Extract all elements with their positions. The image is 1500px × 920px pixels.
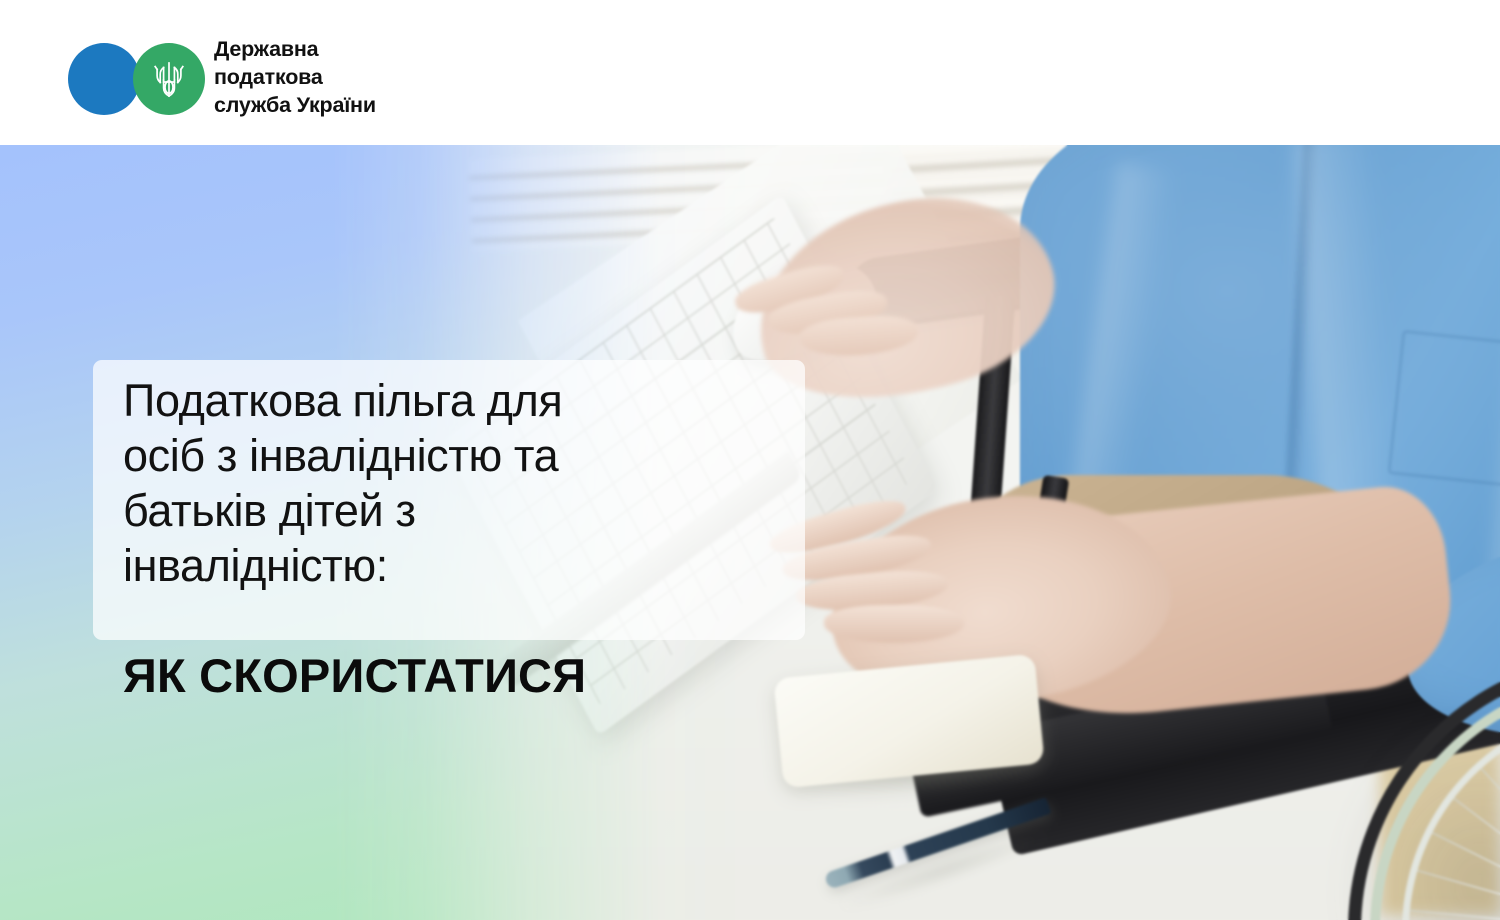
poster: Податкова пільга для осіб з інвалідністю… — [0, 0, 1500, 920]
finger — [824, 605, 964, 643]
headline-text: Податкова пільга для осіб з інвалідністю… — [123, 374, 783, 594]
ukraine-trident-icon — [152, 58, 186, 100]
page-header: Державна податкова служба України — [0, 0, 1500, 145]
headline-box: Податкова пільга для осіб з інвалідністю… — [93, 360, 805, 640]
shirt-pocket — [1388, 330, 1500, 493]
blue-circle-icon — [68, 43, 140, 115]
logo-organization-name: Державна податкова служба України — [214, 36, 376, 120]
logo-block[interactable]: Державна податкова служба України — [68, 36, 376, 120]
subheadline-text: ЯК СКОРИСТАТИСЯ — [123, 651, 586, 700]
logo-marks — [68, 38, 208, 118]
green-circle-icon — [133, 43, 205, 115]
